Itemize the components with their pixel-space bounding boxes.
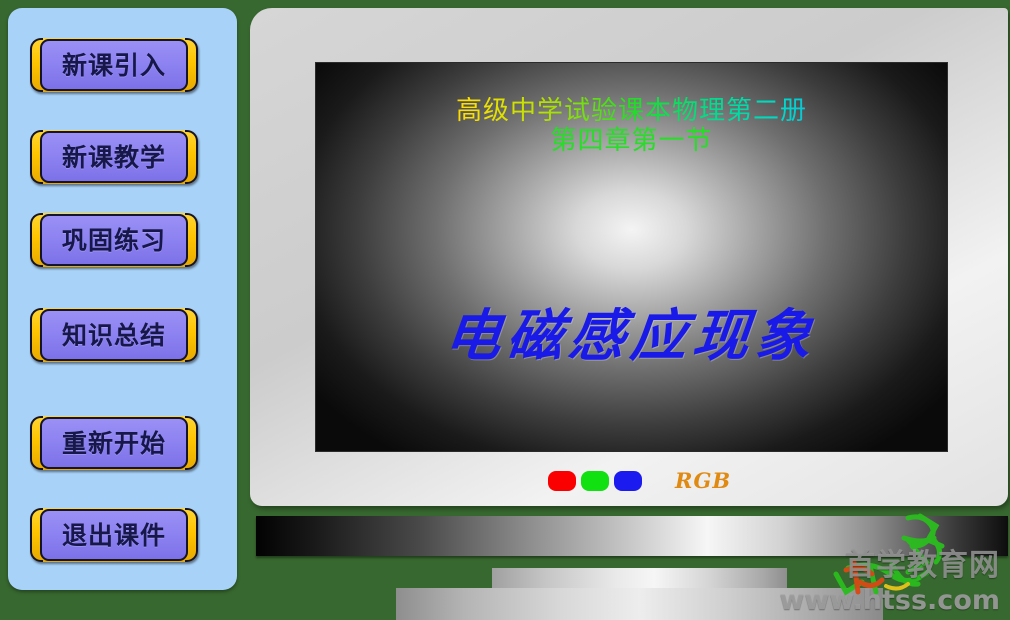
- monitor-bezel: 高级中学试验课本物理第二册 第四章第一节 电磁感应现象 RGB: [250, 8, 1008, 506]
- slide-header-line-1: 高级中学试验课本物理第二册: [316, 97, 947, 127]
- rgb-indicator-group: RGB: [548, 468, 731, 493]
- nav-item-teaching[interactable]: 新课教学: [30, 130, 198, 184]
- nav-item-label: 新课教学: [62, 145, 166, 170]
- nav-item-label: 巩固练习: [62, 228, 166, 253]
- presentation-stage: 新课引入 新课教学 巩固练习 知识总结: [0, 0, 1010, 620]
- button-face: 退出课件: [40, 509, 188, 561]
- slide-header: 高级中学试验课本物理第二册 第四章第一节: [316, 97, 947, 157]
- indicator-blue-icon[interactable]: [614, 471, 642, 491]
- button-face: 巩固练习: [40, 214, 188, 266]
- nav-item-practice[interactable]: 巩固练习: [30, 213, 198, 267]
- slide-main-title: 电磁感应现象: [315, 291, 948, 372]
- button-face: 重新开始: [40, 417, 188, 469]
- navigation-panel: 新课引入 新课教学 巩固练习 知识总结: [8, 8, 237, 590]
- nav-item-intro[interactable]: 新课引入: [30, 38, 198, 92]
- rgb-label: RGB: [675, 468, 731, 493]
- monitor-stand-neck: [256, 516, 1008, 556]
- button-face: 新课教学: [40, 131, 188, 183]
- button-face: 新课引入: [40, 39, 188, 91]
- indicator-red-icon[interactable]: [548, 471, 576, 491]
- slide-header-line-2: 第四章第一节: [316, 127, 947, 157]
- indicator-green-icon[interactable]: [581, 471, 609, 491]
- nav-item-restart[interactable]: 重新开始: [30, 416, 198, 470]
- button-face: 知识总结: [40, 309, 188, 361]
- nav-item-label: 知识总结: [62, 323, 166, 348]
- nav-item-label: 重新开始: [62, 431, 166, 456]
- nav-item-label: 新课引入: [62, 53, 166, 78]
- nav-item-exit[interactable]: 退出课件: [30, 508, 198, 562]
- monitor-stand-base-lower: [396, 588, 883, 620]
- nav-item-label: 退出课件: [62, 523, 166, 548]
- nav-item-summary[interactable]: 知识总结: [30, 308, 198, 362]
- monitor-screen[interactable]: 高级中学试验课本物理第二册 第四章第一节 电磁感应现象: [315, 62, 948, 452]
